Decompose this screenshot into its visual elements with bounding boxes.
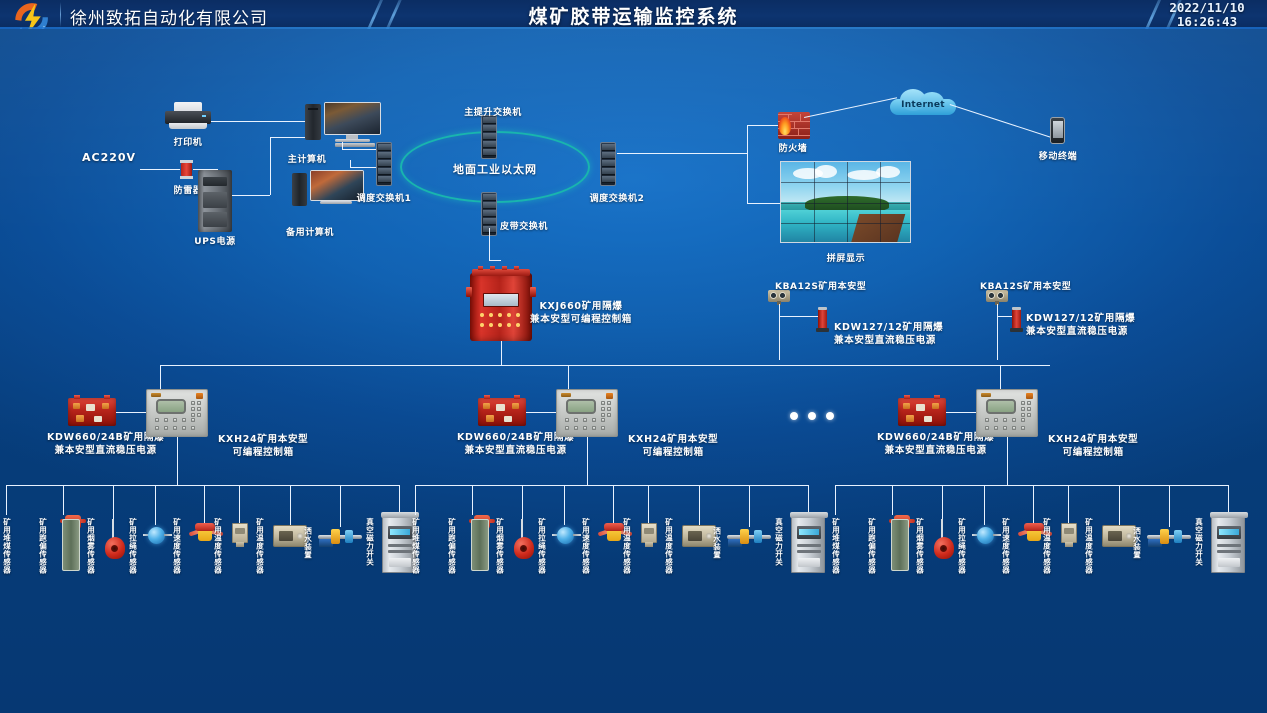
line-power3-to-ctrl3 xyxy=(946,412,976,413)
hoist-switch-label: 主提升交换机 xyxy=(464,105,522,118)
line-s1-3 xyxy=(113,485,114,519)
kxh24-controller-2-label: KXH24矿用本安型 可编程控制箱 xyxy=(628,433,718,459)
line-s2-8 xyxy=(749,485,750,527)
line-cam1-to-power xyxy=(779,316,818,317)
ellipsis-dot-3 xyxy=(826,412,834,420)
vacuum-magnetic-switch-2 xyxy=(791,515,825,573)
kxh24-controller-1-line1: KXH24矿用本安型 xyxy=(218,433,308,446)
line-s3-4 xyxy=(984,485,985,525)
sensor-label-2-4: 矿用拉绳传感器 xyxy=(537,518,546,574)
kxh24-controller-1-label: KXH24矿用本安型 可编程控制箱 xyxy=(218,433,308,459)
kdw127-power-2-line2: 兼本安型直流稳压电源 xyxy=(1026,325,1135,338)
line-ctrl3-to-sensorbus xyxy=(1007,437,1008,485)
vacuum-magnetic-switch-3 xyxy=(1211,515,1245,573)
sensor-label-3-1: 矿用堆煤传感器 xyxy=(831,518,840,574)
kba12s-camera-2-label: KBA12S矿用本安型 xyxy=(980,279,1071,292)
kdw127-power-1-label: KDW127/12矿用隔爆 兼本安型直流稳压电源 xyxy=(834,321,943,347)
mobile-terminal-device xyxy=(1050,117,1065,144)
line-sw2-to-right xyxy=(617,153,747,154)
sensor-label-1-7: 矿用温度传感器 xyxy=(255,518,264,574)
line-backupcpu-drop xyxy=(350,160,351,168)
line-s1-8 xyxy=(340,485,341,527)
ellipsis-dot-1 xyxy=(790,412,798,420)
line-ups-right xyxy=(232,195,270,196)
ups-label: UPS电源 xyxy=(194,234,235,247)
app-header: 徐州致拓自动化有限公司 煤矿胶带运输监控系统 2022/11/10 16:26:… xyxy=(0,0,1267,29)
pull-rope-sensor-1 xyxy=(143,525,169,549)
line-s1-7 xyxy=(290,485,291,525)
line-s3-5 xyxy=(1033,485,1034,523)
line-s3-6 xyxy=(1068,485,1069,523)
kdw127-power-2-line1: KDW127/12矿用隔爆 xyxy=(1026,312,1135,325)
pull-rope-sensor-2 xyxy=(552,525,578,549)
kdw127-power-1-line1: KDW127/12矿用隔爆 xyxy=(834,321,943,334)
mobile-terminal-label: 移动终端 xyxy=(1039,149,1077,162)
kxj660-label-line1: KXJ660矿用隔爆 xyxy=(530,300,632,313)
line-internet-to-mobile xyxy=(950,104,1055,139)
sensor-label-1-8: 洒水装置 xyxy=(303,527,312,559)
belt-switch-label: 皮带交换机 xyxy=(500,219,548,232)
temperature-sensor-3a xyxy=(1059,523,1079,547)
sensor-label-3-4: 矿用拉绳传感器 xyxy=(957,518,966,574)
sensor-label-2-8: 洒水装置 xyxy=(712,527,721,559)
kdw127-power-1 xyxy=(818,309,827,329)
backup-computer-device xyxy=(292,170,364,212)
kxh24-controller-1[interactable] xyxy=(146,389,208,437)
firewall-label: 防火墙 xyxy=(779,141,808,154)
line-kxj-to-bus xyxy=(501,341,502,366)
line-beltsw-to-kxj xyxy=(489,260,501,261)
line-maincpu-drop xyxy=(342,142,343,150)
line-s2-2 xyxy=(472,485,473,515)
page-title: 煤矿胶带运输监控系统 xyxy=(0,2,1267,29)
hoist-switch-device[interactable] xyxy=(481,115,497,159)
kba12s-camera-1-label: KBA12S矿用本安型 xyxy=(775,279,866,292)
video-wall-display xyxy=(780,161,911,243)
line-ac-to-arrester xyxy=(140,169,180,170)
smoke-sensor-1 xyxy=(103,519,125,563)
pull-rope-sensor-3 xyxy=(972,525,998,549)
line-cam1-to-bus xyxy=(779,316,780,360)
line-s1-6 xyxy=(239,485,240,523)
line-s3-8 xyxy=(1169,485,1170,527)
line-s2-9 xyxy=(808,485,809,515)
sensor-label-2-1: 矿用堆煤传感器 xyxy=(411,518,420,574)
line-s1-9 xyxy=(399,485,400,515)
line-s3-3 xyxy=(942,485,943,519)
kdw660-power-2-line2: 兼本安型直流稳压电源 xyxy=(457,444,574,457)
sensor-label-2-7: 矿用温度传感器 xyxy=(664,518,673,574)
line-s2-4 xyxy=(564,485,565,525)
datetime-display: 2022/11/10 16:26:43 xyxy=(1157,1,1257,29)
line-power1-to-ctrl1 xyxy=(116,412,146,413)
line-s1-4 xyxy=(155,485,156,525)
line-s3-9 xyxy=(1228,485,1229,515)
cluster-repeat-ellipsis xyxy=(790,412,834,420)
dispatch-switch-2-device[interactable] xyxy=(600,142,616,186)
line-s1-2 xyxy=(63,485,64,515)
line-s1-5 xyxy=(204,485,205,523)
sensor-label-3-8: 洒水装置 xyxy=(1132,527,1141,559)
line-cam2-to-power xyxy=(997,316,1012,317)
sensor-label-2-9: 真空磁力开关 xyxy=(774,518,783,566)
sensor-label-3-6: 矿用温度传感器 xyxy=(1042,518,1051,574)
line-s2-6 xyxy=(648,485,649,523)
kxh24-controller-2-line1: KXH24矿用本安型 xyxy=(628,433,718,446)
ethernet-ring-label: 地面工业以太网 xyxy=(453,161,537,177)
line-ups-vertical xyxy=(270,137,271,195)
kxh24-controller-2[interactable] xyxy=(556,389,618,437)
ups-device xyxy=(198,170,232,232)
ellipsis-dot-2 xyxy=(808,412,816,420)
kxj660-label-line2: 兼本安型可编程控制箱 xyxy=(530,313,632,326)
line-ctrl2-to-sensorbus xyxy=(587,437,588,485)
kdw127-power-2 xyxy=(1012,309,1021,329)
kxh24-controller-3[interactable] xyxy=(976,389,1038,437)
video-wall-label: 拼屏显示 xyxy=(827,251,865,264)
kxj660-controller[interactable] xyxy=(470,273,532,341)
sensor-label-1-5: 矿用速度传感器 xyxy=(172,518,181,574)
line-s2-1 xyxy=(415,485,416,515)
dispatch-switch-1-label: 调度交换机1 xyxy=(357,191,412,204)
belt-deviation-sensor-3 xyxy=(891,519,909,571)
smoke-sensor-3 xyxy=(932,519,954,563)
sensor-label-2-3: 矿用烟雾传感器 xyxy=(495,518,504,574)
kdw660-power-3 xyxy=(898,398,946,426)
dispatch-switch-2-label: 调度交换机2 xyxy=(590,191,645,204)
kxh24-controller-2-line2: 可编程控制箱 xyxy=(628,446,718,459)
temperature-sensor-2b xyxy=(682,525,716,547)
line-s2-7 xyxy=(699,485,700,525)
water-spray-device-2 xyxy=(727,527,771,549)
sensor-label-2-6: 矿用温度传感器 xyxy=(622,518,631,574)
main-bus-line xyxy=(160,365,1050,366)
line-s2-5 xyxy=(613,485,614,523)
line-cam2-to-bus xyxy=(997,316,998,360)
sensor-label-1-3: 矿用烟雾传感器 xyxy=(86,518,95,574)
main-computer-label: 主计算机 xyxy=(288,152,326,165)
sensor-label-1-6: 矿用温度传感器 xyxy=(213,518,222,574)
printer-label: 打印机 xyxy=(174,135,203,148)
date-text: 2022/11/10 xyxy=(1157,1,1257,15)
line-s2-3 xyxy=(522,485,523,519)
line-beltsw-down xyxy=(489,228,490,260)
kdw127-power-2-label: KDW127/12矿用隔爆 兼本安型直流稳压电源 xyxy=(1026,312,1135,338)
belt-deviation-sensor-2 xyxy=(471,519,489,571)
sensor-label-3-2: 矿用跑偏传感器 xyxy=(867,518,876,574)
sensor-label-1-2: 矿用跑偏传感器 xyxy=(38,518,47,574)
kdw127-power-1-line2: 兼本安型直流稳压电源 xyxy=(834,334,943,347)
internet-cloud: Internet xyxy=(890,87,956,117)
kdw660-power-1-line2: 兼本安型直流稳压电源 xyxy=(47,444,164,457)
line-right-vertical xyxy=(747,125,748,203)
temperature-sensor-1a xyxy=(230,523,250,547)
kxh24-controller-3-line2: 可编程控制箱 xyxy=(1048,446,1138,459)
kdw660-power-3-line2: 兼本安型直流稳压电源 xyxy=(877,444,994,457)
line-s3-1 xyxy=(835,485,836,515)
smoke-sensor-2 xyxy=(512,519,534,563)
backup-computer-label: 备用计算机 xyxy=(286,225,334,238)
dispatch-switch-1-device[interactable] xyxy=(376,142,392,186)
kxh24-controller-3-line1: KXH24矿用本安型 xyxy=(1048,433,1138,446)
sensor-label-3-3: 矿用烟雾传感器 xyxy=(915,518,924,574)
diagram-canvas: AC220V 防雷器 UPS电源 打印机 主计算机 备用计算机 调度交换机1 xyxy=(0,29,1267,713)
line-s1-1 xyxy=(6,485,7,515)
belt-deviation-sensor-1 xyxy=(62,519,80,571)
line-s3-2 xyxy=(892,485,893,515)
kxj660-label: KXJ660矿用隔爆 兼本安型可编程控制箱 xyxy=(530,300,632,326)
sensor-label-1-1: 矿用堆煤传感器 xyxy=(2,518,11,574)
kdw660-power-2 xyxy=(478,398,526,426)
kxh24-controller-3-label: KXH24矿用本安型 可编程控制箱 xyxy=(1048,433,1138,459)
internet-label: Internet xyxy=(890,100,956,110)
temperature-sensor-3b xyxy=(1102,525,1136,547)
water-spray-device-1 xyxy=(318,527,362,549)
line-to-firewall xyxy=(747,125,780,126)
power-input-label: AC220V xyxy=(82,151,136,164)
line-to-videowall xyxy=(747,203,780,204)
sensor-label-1-9: 真空磁力开关 xyxy=(365,518,374,566)
temperature-sensor-2a xyxy=(639,523,659,547)
line-ctrl1-to-sensorbus xyxy=(177,437,178,485)
main-computer-device xyxy=(305,102,381,148)
sensor-label-1-4: 矿用拉绳传感器 xyxy=(128,518,137,574)
sensor-label-3-5: 矿用速度传感器 xyxy=(1001,518,1010,574)
printer-device xyxy=(165,102,211,130)
sensor-label-2-2: 矿用跑偏传感器 xyxy=(447,518,456,574)
line-cam2-down xyxy=(997,304,998,316)
line-power2-to-ctrl2 xyxy=(526,412,556,413)
line-firewall-to-internet xyxy=(804,97,897,118)
kdw660-power-1 xyxy=(68,398,116,426)
lightning-arrester-device xyxy=(180,160,193,179)
kxh24-controller-1-line2: 可编程控制箱 xyxy=(218,446,308,459)
time-text: 16:26:43 xyxy=(1157,15,1257,29)
line-s3-7 xyxy=(1119,485,1120,525)
sensor-label-3-9: 真空磁力开关 xyxy=(1194,518,1203,566)
line-cam1-down xyxy=(779,304,780,316)
line-printer-to-maincpu xyxy=(211,121,306,122)
water-spray-device-3 xyxy=(1147,527,1191,549)
temperature-sensor-1b xyxy=(273,525,307,547)
sensor-label-2-5: 矿用速度传感器 xyxy=(581,518,590,574)
sensor-label-3-7: 矿用温度传感器 xyxy=(1084,518,1093,574)
